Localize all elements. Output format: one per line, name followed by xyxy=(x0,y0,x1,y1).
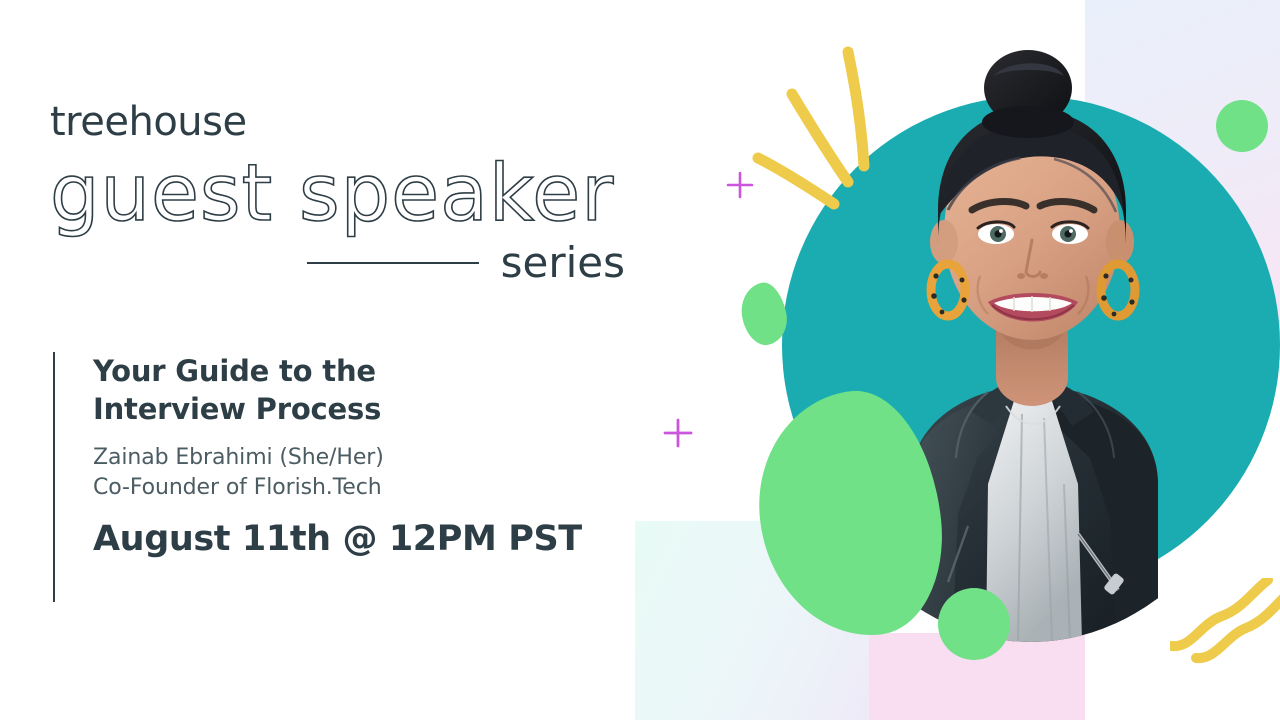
talk-title-line-2: Interview Process xyxy=(93,390,582,428)
details-text-column: Your Guide to the Interview Process Zain… xyxy=(55,352,582,602)
speaker-role: Co-Founder of Florish.Tech xyxy=(93,473,582,503)
talk-title-line-1: Your Guide to the xyxy=(93,354,376,388)
series-divider-rule xyxy=(307,262,479,264)
talk-title: Your Guide to the Interview Process xyxy=(93,352,582,429)
promo-graphic-canvas: treehouse guest speaker series Your Guid… xyxy=(0,0,1280,720)
series-row: series xyxy=(50,242,625,284)
headline-outline-text: guest speaker xyxy=(50,152,670,236)
event-details-block: Your Guide to the Interview Process Zain… xyxy=(53,352,582,602)
pink-block-bottom-right xyxy=(869,633,1085,720)
plus-mark-top xyxy=(726,171,754,199)
speaker-name: Zainab Ebrahimi (She/Her) xyxy=(93,443,582,473)
series-label: series xyxy=(501,242,625,284)
headline-block: treehouse guest speaker series xyxy=(50,102,670,284)
event-datetime: August 11th @ 12PM PST xyxy=(93,520,582,559)
brand-wordmark: treehouse xyxy=(50,102,670,142)
speaker-portrait xyxy=(782,14,1280,642)
pale-gradient-block-bottom-left xyxy=(635,521,870,720)
yellow-wave-strokes xyxy=(1170,578,1280,688)
plus-mark-lower xyxy=(663,418,693,448)
